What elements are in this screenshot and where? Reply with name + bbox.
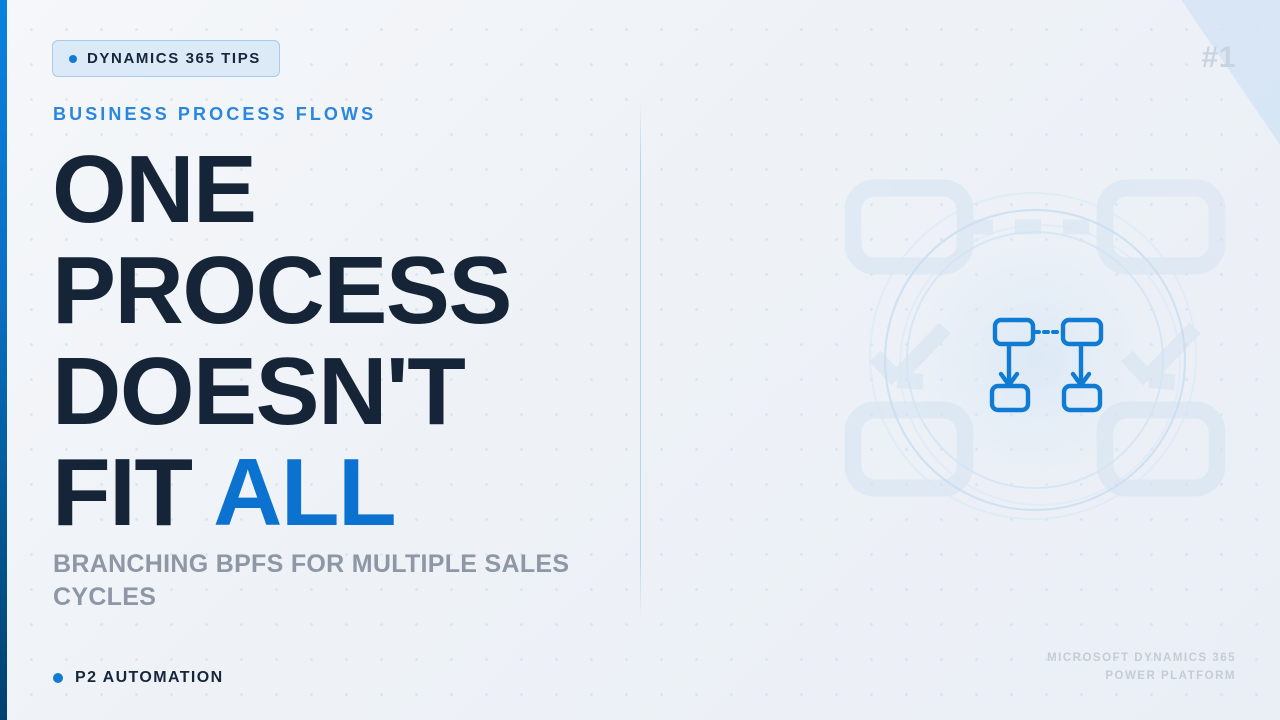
slide-canvas: #1 (0, 0, 1280, 720)
product-footer-line-1: MICROSOFT DYNAMICS 365 (1047, 649, 1236, 667)
product-footer: MICROSOFT DYNAMICS 365 POWER PLATFORM (1047, 649, 1236, 685)
headline-line-4-accent: ALL (213, 439, 395, 546)
subtitle: BRANCHING BPFS FOR MULTIPLE SALES CYCLES (53, 548, 593, 614)
headline-line-2: PROCESS (52, 240, 652, 341)
brand-label: P2 AUTOMATION (75, 669, 224, 687)
content-column: DYNAMICS 365 TIPS BUSINESS PROCESS FLOWS… (52, 0, 652, 720)
category-badge[interactable]: DYNAMICS 365 TIPS (52, 40, 280, 77)
issue-number: #1 (1202, 41, 1236, 75)
headline-line-3: DOESN'T (52, 341, 652, 442)
page-title: ONE PROCESS DOESN'T FIT ALL (52, 139, 652, 543)
headline-line-1: ONE (52, 139, 652, 240)
branching-process-flow-illustration (835, 160, 1235, 560)
left-accent-bar (0, 0, 7, 720)
headline-line-4-prefix: FIT (52, 439, 213, 546)
product-footer-line-2: POWER PLATFORM (1047, 667, 1236, 685)
category-badge-label: DYNAMICS 365 TIPS (87, 50, 261, 67)
bullet-dot-icon (69, 55, 77, 63)
headline-line-4: FIT ALL (52, 442, 652, 543)
brand-footer: P2 AUTOMATION (53, 669, 224, 687)
eyebrow-label: BUSINESS PROCESS FLOWS (53, 104, 376, 125)
bullet-dot-icon (53, 673, 63, 683)
